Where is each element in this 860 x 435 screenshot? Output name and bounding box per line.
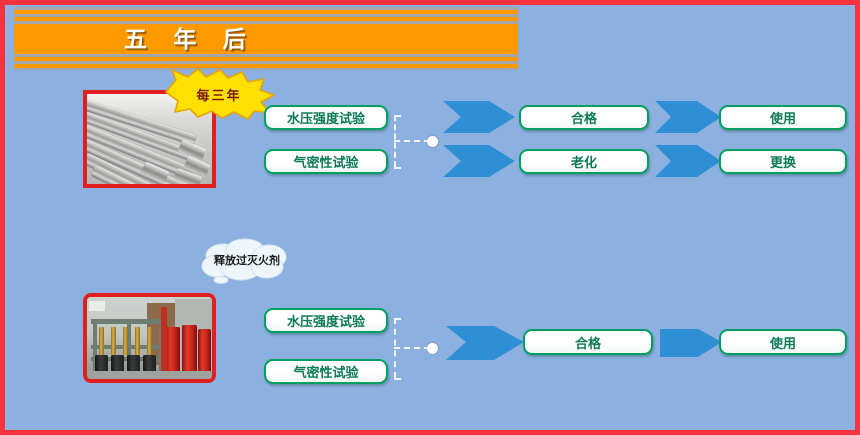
result-label: 老化 <box>571 152 597 171</box>
test-label: 气密性试验 <box>293 152 358 171</box>
action-label: 使用 <box>770 108 796 127</box>
connector-bracket-2 <box>394 313 444 383</box>
connector-bracket-1 <box>394 110 444 172</box>
action-label: 更换 <box>770 152 796 171</box>
page-title: 五 年 后 <box>124 23 454 55</box>
connector-stub-bottom <box>394 378 401 380</box>
arrow-test-to-result-2 <box>443 145 515 177</box>
chevron-right-icon <box>446 320 524 364</box>
arrow-result-to-action-1 <box>655 101 721 133</box>
chevron-right-icon <box>655 145 721 177</box>
arrow-test-to-result-1 <box>443 101 515 133</box>
test-label: 水压强度试验 <box>287 311 365 330</box>
test-box-hydrostatic-2[interactable]: 水压强度试验 <box>264 308 388 333</box>
test-label: 气密性试验 <box>293 362 358 381</box>
result-label: 合格 <box>575 333 601 352</box>
connector-horizontal <box>394 140 430 142</box>
chevron-right-icon <box>660 323 722 361</box>
every-three-years-badge: 每三年 <box>160 68 278 120</box>
action-label: 使用 <box>770 333 796 352</box>
connector-stub-top <box>394 115 401 117</box>
arrow-test-to-result-3 <box>446 320 524 364</box>
slide-root: 五 年 后 每三年 水压强度试验 气密性试验 <box>0 0 860 435</box>
connector-stub-bottom <box>394 167 401 169</box>
chevron-right-icon <box>443 101 515 133</box>
connector-horizontal <box>394 347 430 349</box>
title-banner: 五 年 后 <box>14 7 518 69</box>
chevron-right-icon <box>443 145 515 177</box>
result-box-aged-1[interactable]: 老化 <box>519 149 649 174</box>
released-agent-bubble: 释放过灭火剂 <box>197 238 297 286</box>
action-box-use-2[interactable]: 使用 <box>719 329 847 355</box>
action-box-use-1[interactable]: 使用 <box>719 105 847 130</box>
result-box-pass-2[interactable]: 合格 <box>523 329 653 355</box>
connector-stub-top <box>394 318 401 320</box>
connector-node <box>427 136 438 147</box>
action-box-replace-1[interactable]: 更换 <box>719 149 847 174</box>
badge-label: 每三年 <box>160 68 278 120</box>
test-label: 水压强度试验 <box>287 108 365 127</box>
test-box-airtightness-2[interactable]: 气密性试验 <box>264 359 388 384</box>
connector-node <box>427 343 438 354</box>
test-box-airtightness-1[interactable]: 气密性试验 <box>264 149 388 174</box>
suppression-room-photo <box>83 293 216 383</box>
arrow-result-to-action-3 <box>660 323 722 361</box>
result-box-pass-1[interactable]: 合格 <box>519 105 649 130</box>
result-label: 合格 <box>571 108 597 127</box>
bubble-label: 释放过灭火剂 <box>197 238 297 282</box>
arrow-result-to-action-2 <box>655 145 721 177</box>
test-box-hydrostatic-1[interactable]: 水压强度试验 <box>264 105 388 130</box>
chevron-right-icon <box>655 101 721 133</box>
